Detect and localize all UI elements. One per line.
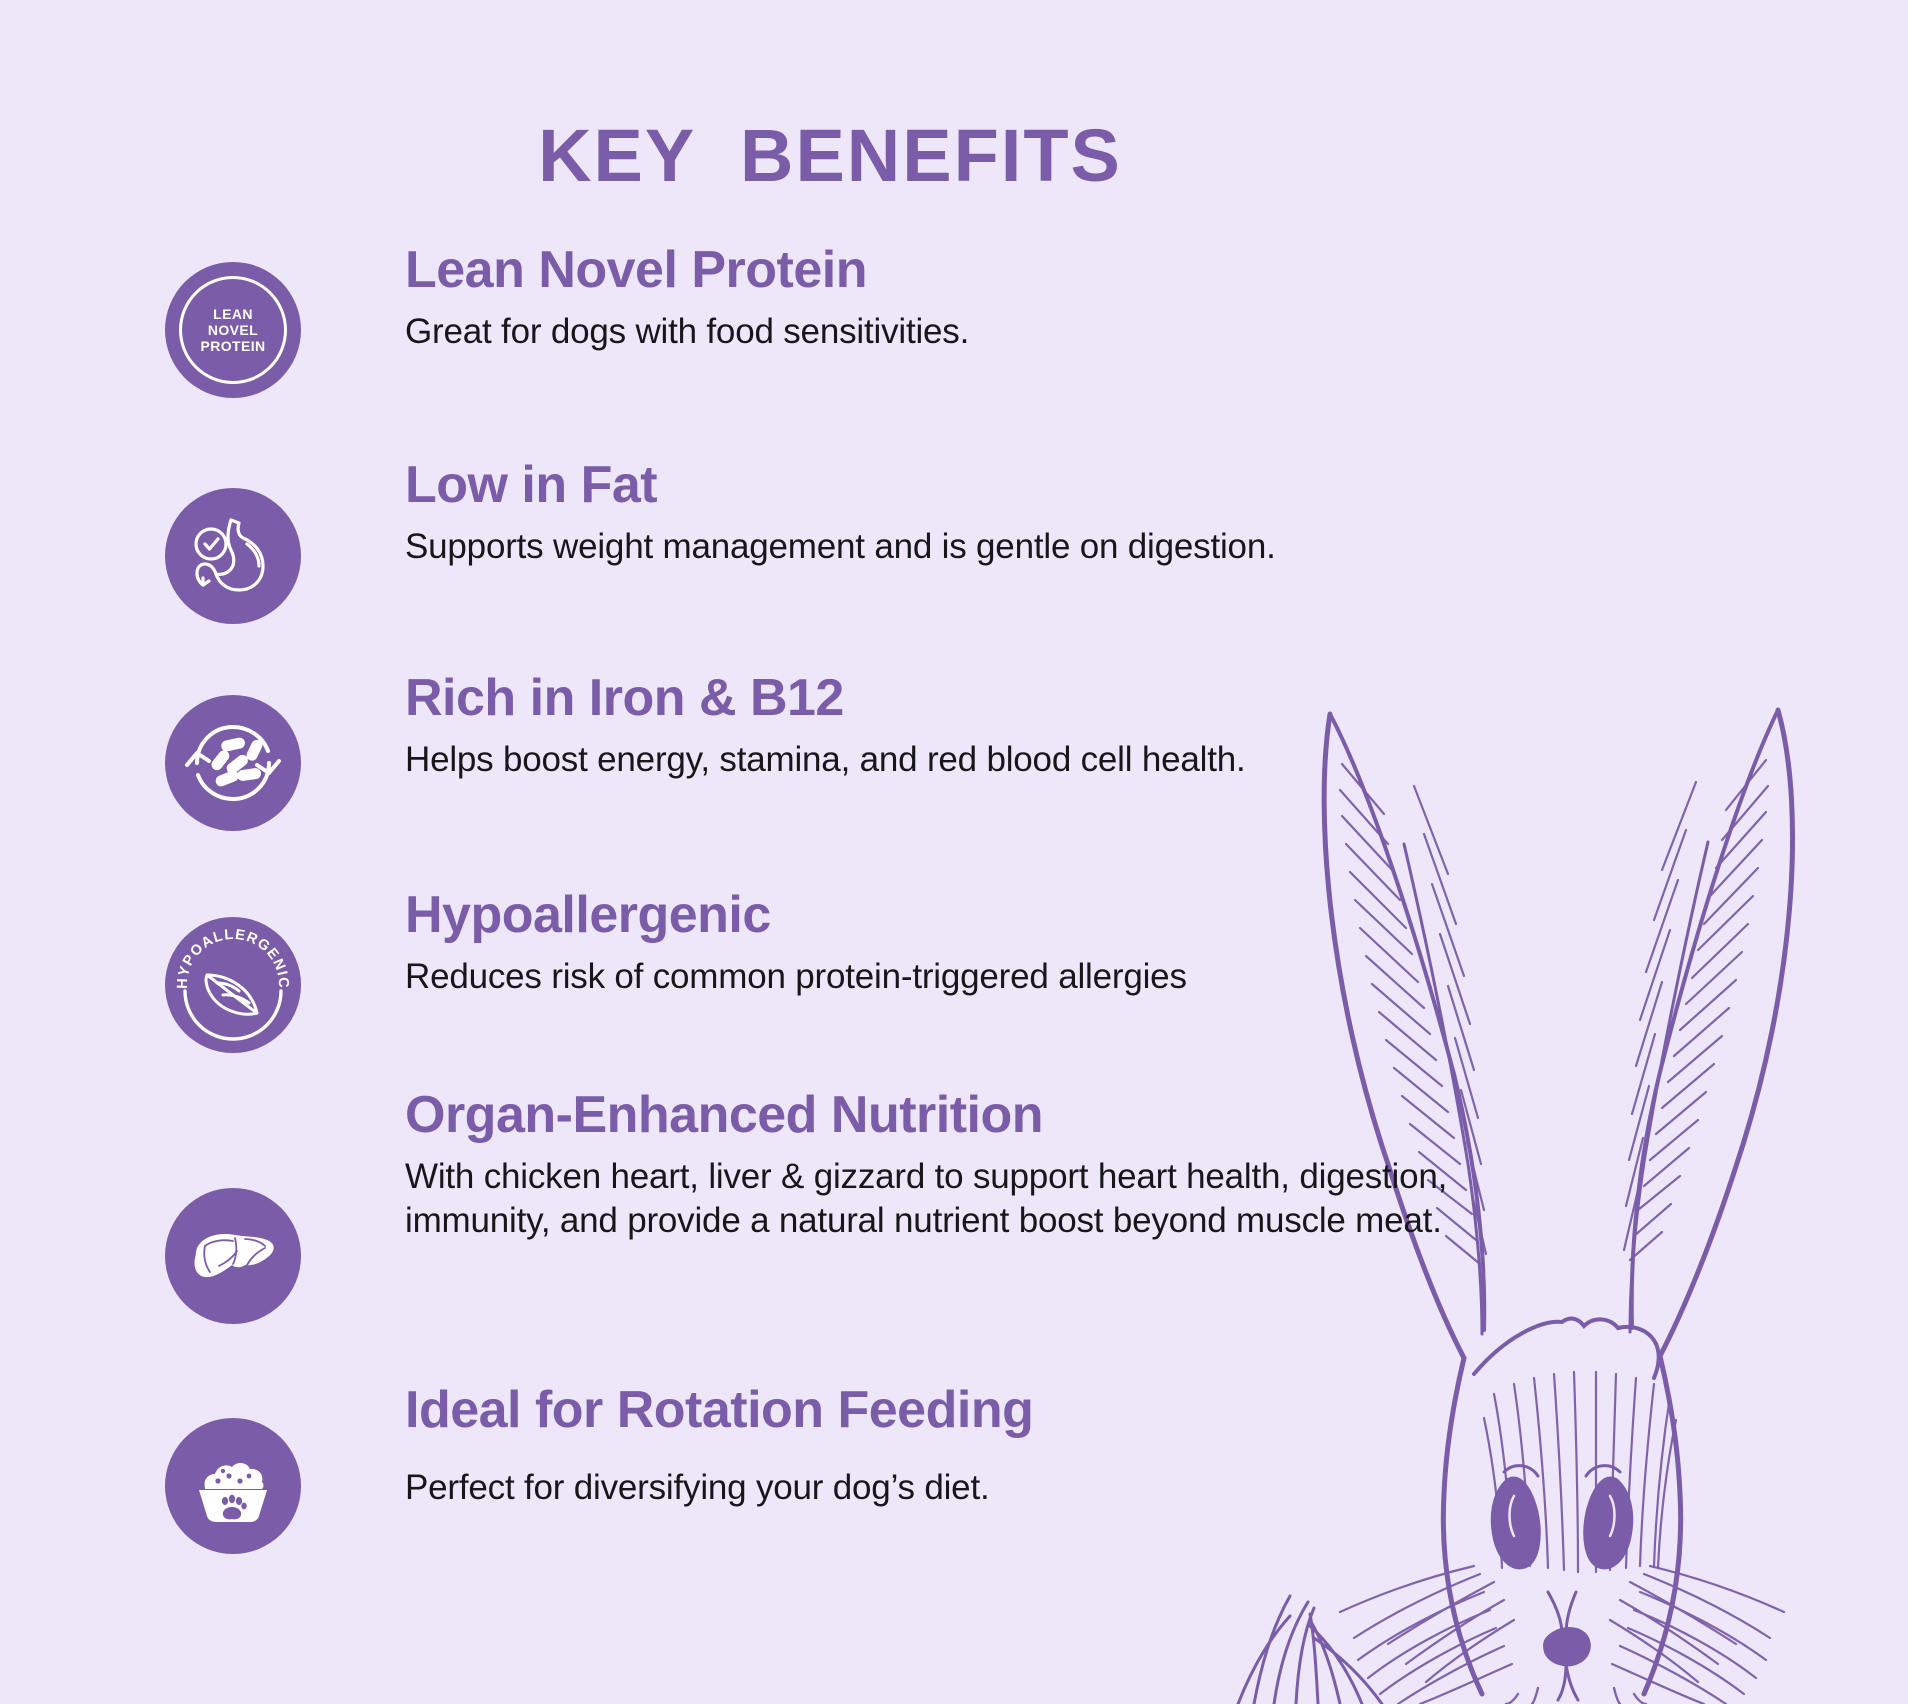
dog-food-bowl-icon [165, 1418, 301, 1554]
badge-line-1: LEAN [213, 306, 253, 322]
benefit-description: Helps boost energy, stamina, and red blo… [405, 738, 1465, 782]
benefit-description: With chicken heart, liver & gizzard to s… [405, 1155, 1465, 1243]
benefit-heading: Lean Novel Protein [405, 240, 1465, 300]
lean-novel-protein-badge-icon: LEAN NOVEL PROTEIN [165, 262, 301, 398]
benefit-text: Low in Fat Supports weight management an… [405, 455, 1465, 569]
benefit-text: Hypoallergenic Reduces risk of common pr… [405, 885, 1465, 999]
benefit-text: Rich in Iron & B12 Helps boost energy, s… [405, 668, 1465, 782]
benefit-heading: Ideal for Rotation Feeding [405, 1380, 1465, 1440]
badge-line-2: NOVEL [208, 322, 258, 338]
stomach-check-icon [165, 488, 301, 624]
badge-line-3: PROTEIN [200, 338, 265, 354]
benefit-heading: Low in Fat [405, 455, 1465, 515]
liver-icon [165, 1188, 301, 1324]
benefit-heading: Hypoallergenic [405, 885, 1465, 945]
benefit-heading: Rich in Iron & B12 [405, 668, 1465, 728]
benefit-text: Organ-Enhanced Nutrition With chicken he… [405, 1085, 1465, 1243]
page-title: KEY BENEFITS [0, 112, 1660, 200]
key-benefits-panel: KEY BENEFITS LEAN NOVEL PROTEIN Lean Nov… [0, 0, 1908, 1704]
benefit-description: Supports weight management and is gentle… [405, 525, 1465, 569]
hypoallergenic-badge-label: HYPOALLERGENIC [175, 927, 291, 989]
benefit-heading: Organ-Enhanced Nutrition [405, 1085, 1465, 1145]
benefit-description: Great for dogs with food sensitivities. [405, 310, 1465, 354]
hypoallergenic-leaf-badge-icon: HYPOALLERGENIC [165, 917, 301, 1053]
benefit-description: Perfect for diversifying your dog’s diet… [405, 1466, 1465, 1510]
nutrient-cycle-icon [165, 695, 301, 831]
svg-text:HYPOALLERGENIC: HYPOALLERGENIC [175, 927, 291, 989]
benefit-text: Ideal for Rotation Feeding Perfect for d… [405, 1380, 1465, 1510]
benefit-text: Lean Novel Protein Great for dogs with f… [405, 240, 1465, 354]
benefit-description: Reduces risk of common protein-triggered… [405, 955, 1465, 999]
badge-label: LEAN NOVEL PROTEIN [165, 262, 301, 398]
